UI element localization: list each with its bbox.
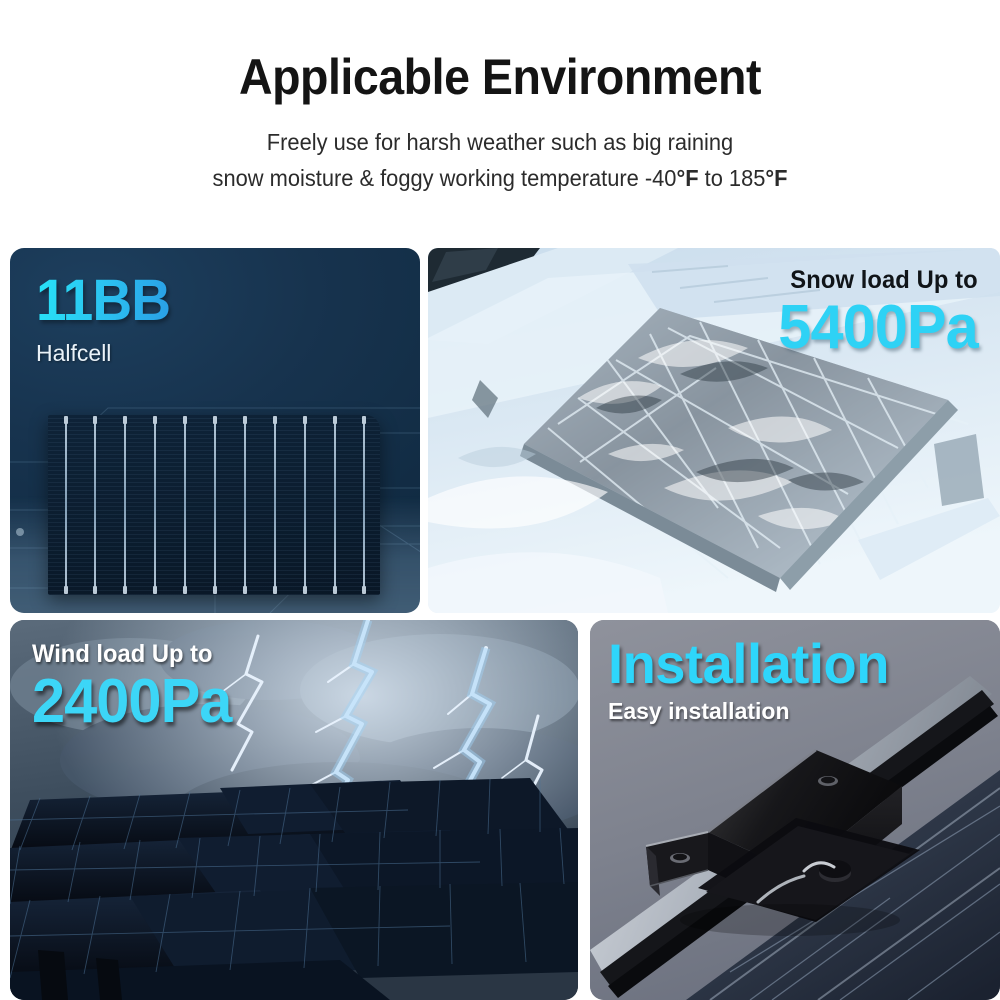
snow-value: 5400Pa	[779, 297, 978, 359]
panel-halfcell: 11BB Halfcell	[10, 248, 420, 613]
degree-f-2: °F	[765, 165, 787, 191]
busbar	[304, 418, 306, 592]
page-subtitle: Freely use for harsh weather such as big…	[25, 124, 975, 197]
busbar	[184, 418, 186, 592]
header: Applicable Environment Freely use for ha…	[0, 0, 1000, 197]
busbar	[244, 418, 246, 592]
busbar	[154, 418, 156, 592]
installation-text-block: Installation Easy installation	[608, 636, 898, 725]
infographic-page: Applicable Environment Freely use for ha…	[0, 0, 1000, 1000]
panel-installation: Installation Easy installation	[590, 620, 1000, 1000]
wind-text-block: Wind load Up to 2400Pa	[32, 640, 240, 733]
installation-sublabel: Easy installation	[608, 698, 898, 725]
installation-headline: Installation	[608, 636, 889, 692]
busbar	[94, 418, 96, 592]
panel-snow-load: Snow load Up to 5400Pa	[428, 248, 1000, 613]
page-title: Applicable Environment	[35, 50, 965, 105]
subtitle-line-2-text: snow moisture & foggy working temperatur…	[213, 165, 677, 191]
wind-value: 2400Pa	[32, 671, 231, 733]
snow-caption: Snow load Up to	[781, 266, 978, 295]
busbar	[274, 418, 276, 592]
wind-caption: Wind load Up to	[32, 640, 229, 669]
busbar	[334, 418, 336, 592]
solar-cell-body	[48, 415, 380, 595]
feature-grid: 11BB Halfcell	[0, 248, 1000, 1000]
busbar	[124, 418, 126, 592]
subtitle-line-2: snow moisture & foggy working temperatur…	[25, 160, 975, 196]
degree-f-1: °F	[676, 165, 698, 191]
halfcell-sublabel: Halfcell	[36, 340, 177, 367]
busbar	[363, 418, 365, 592]
halfcell-headline: 11BB	[36, 272, 170, 330]
subtitle-line-1: Freely use for harsh weather such as big…	[25, 124, 975, 160]
subtitle-line-2-text-b: to 185	[699, 165, 766, 191]
solar-cell-illustration	[48, 415, 380, 595]
busbar	[214, 418, 216, 592]
snow-text-block: Snow load Up to 5400Pa	[770, 266, 978, 359]
halfcell-text-block: 11BB Halfcell	[36, 272, 177, 367]
panel-wind-load: Wind load Up to 2400Pa	[10, 620, 578, 1000]
busbar	[65, 418, 67, 592]
